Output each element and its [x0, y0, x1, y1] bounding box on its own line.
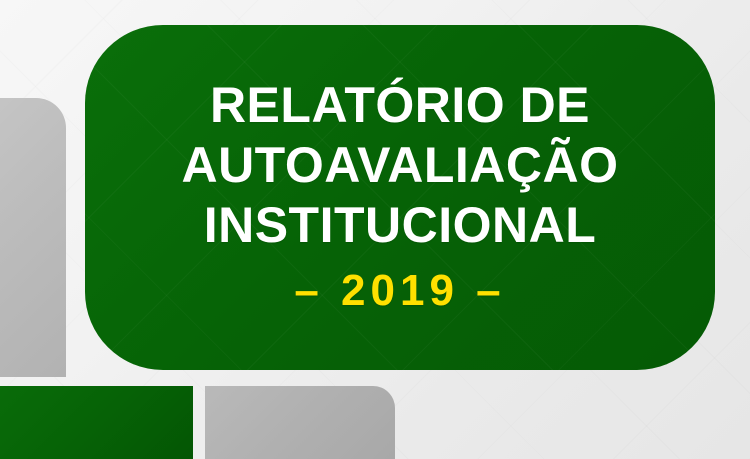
title-line-3: INSTITUCIONAL	[85, 195, 715, 255]
grey-accent-bottom	[205, 386, 395, 459]
year-label: – 2019 –	[85, 265, 715, 317]
report-cover: RELATÓRIO DE AUTOAVALIAÇÃO INSTITUCIONAL…	[0, 0, 750, 459]
title-line-1: RELATÓRIO DE	[85, 75, 715, 135]
title-panel: RELATÓRIO DE AUTOAVALIAÇÃO INSTITUCIONAL…	[85, 25, 715, 370]
title-line-2: AUTOAVALIAÇÃO	[85, 135, 715, 195]
green-accent-bottom	[0, 386, 193, 459]
grey-accent-left	[0, 98, 66, 377]
title-stack: RELATÓRIO DE AUTOAVALIAÇÃO INSTITUCIONAL…	[85, 75, 715, 321]
